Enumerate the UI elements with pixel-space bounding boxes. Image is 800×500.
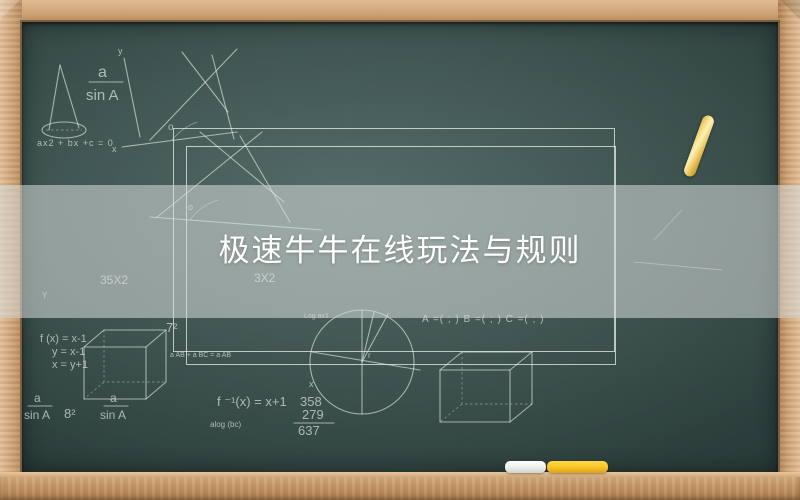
- title-banner-overlay: 极速牛牛在线玩法与规则: [0, 185, 800, 318]
- chalkboard-poster: a sin A y x o ax2 + bx +c = 0 f (x) = x: [0, 0, 800, 500]
- chalk-ledge-lip: [0, 472, 800, 477]
- frame-top-grain: [0, 0, 800, 22]
- page-title: 极速牛牛在线玩法与规则: [219, 236, 582, 267]
- yellow-chalk-piece: [547, 461, 608, 473]
- white-chalk-piece: [505, 461, 546, 473]
